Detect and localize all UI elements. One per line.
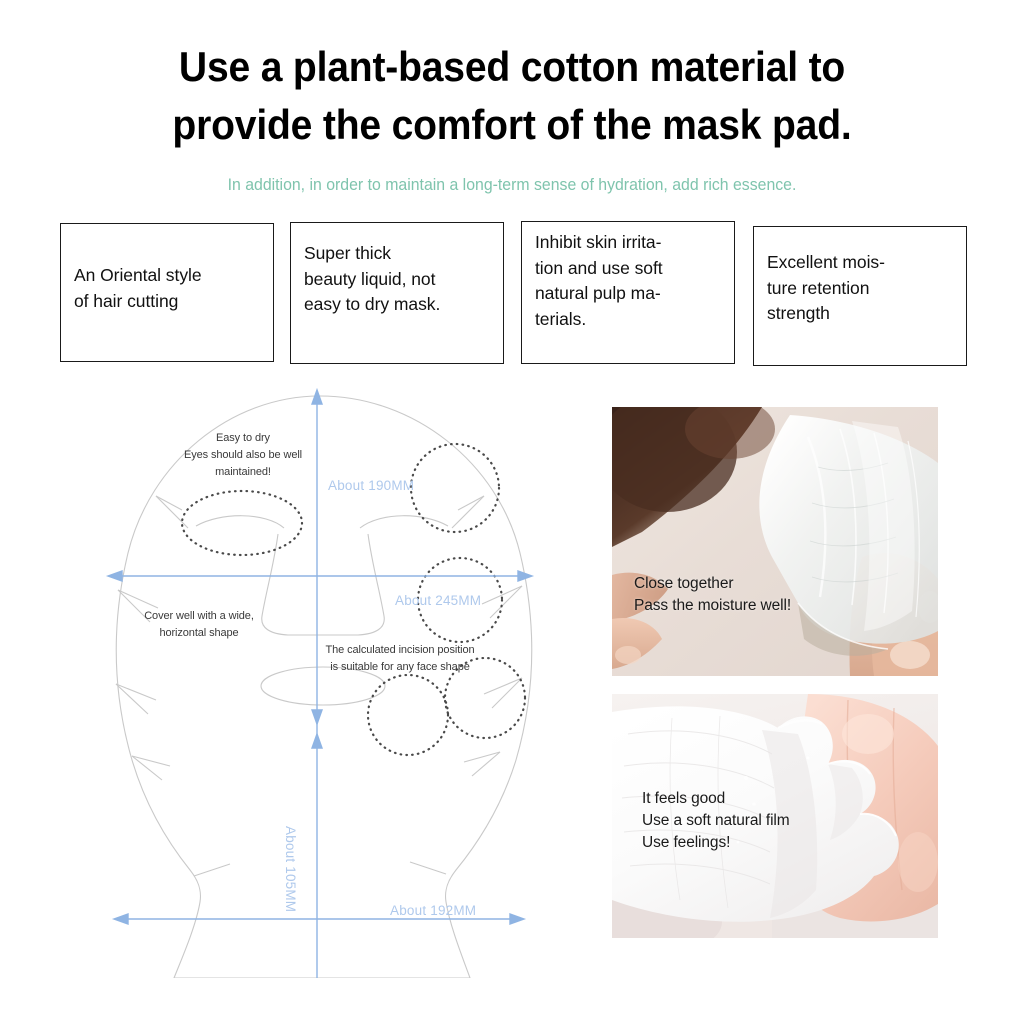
arrow-head-190-bottom — [312, 710, 322, 724]
feature-box-row: An Oriental styleof hair cutting Super t… — [0, 0, 1024, 380]
dimension-label-width-face: About 245MM — [395, 593, 481, 608]
mask-outline-svg — [70, 378, 590, 978]
diagram-note-eye: Easy to dry Eyes should also be well mai… — [158, 430, 328, 481]
caption-line: Close together — [634, 573, 791, 595]
photo-caption: Close together Pass the moisture well! — [634, 573, 791, 617]
text-line: natural pulp ma- — [535, 281, 725, 307]
caption-line: Pass the moisture well! — [634, 595, 791, 617]
eye-opening-left — [196, 516, 284, 528]
note-line: is suitable for any face shape — [300, 659, 500, 676]
notch-slit — [492, 678, 522, 708]
text-line: tion and use soft — [535, 256, 725, 282]
note-line: maintained! — [158, 464, 328, 481]
note-line: Eyes should also be well — [158, 447, 328, 464]
arrow-head-right-192 — [510, 914, 524, 924]
text-line: Excellent mois- — [767, 250, 957, 276]
notch-slit — [116, 684, 156, 700]
dimension-label-width-chin: About 192MM — [390, 903, 476, 918]
note-line: Easy to dry — [158, 430, 328, 447]
notch-slit — [156, 496, 188, 528]
arrow-head-105-top — [312, 734, 322, 748]
note-line: Cover well with a wide, — [114, 608, 284, 625]
photo-cotton-sheet-on-hand: It feels good Use a soft natural film Us… — [612, 694, 938, 938]
note-line: horizontal shape — [114, 625, 284, 642]
feature-box-text: Inhibit skin irrita-tion and use softnat… — [535, 230, 725, 332]
mask-body-outline — [116, 396, 531, 978]
note-line: The calculated incision position — [300, 642, 500, 659]
text-line: strength — [767, 301, 957, 327]
feature-box-moisture-hold: Excellent mois-ture retentionstrength — [753, 226, 967, 366]
diagram-note-cover: Cover well with a wide, horizontal shape — [114, 608, 284, 642]
photo-image — [612, 407, 938, 676]
caption-line: It feels good — [642, 788, 790, 810]
text-line: easy to dry mask. — [304, 292, 494, 318]
photo-column: Close together Pass the moisture well! — [612, 407, 938, 938]
arrow-head-top — [312, 390, 322, 404]
notch-slit — [194, 864, 230, 876]
text-line: ture retention — [767, 276, 957, 302]
eye-opening-right — [360, 516, 448, 528]
feature-box-text: Excellent mois-ture retentionstrength — [767, 250, 957, 327]
caption-line: Use feelings! — [642, 832, 790, 854]
highlight-circle-top-right — [411, 444, 499, 532]
text-line: terials. — [535, 307, 725, 333]
feature-box-text: An Oriental styleof hair cutting — [74, 263, 264, 314]
feature-box-low-irritation: Inhibit skin irrita-tion and use softnat… — [521, 221, 735, 364]
text-line: of hair cutting — [74, 289, 264, 315]
diagram-note-incision: The calculated incision position is suit… — [300, 642, 500, 676]
notch-slit — [156, 496, 182, 510]
text-line: Super thick — [304, 241, 494, 267]
notch-slit — [410, 862, 446, 874]
dimension-label-height: About 190MM — [328, 478, 414, 493]
arrow-head-left-192 — [114, 914, 128, 924]
feature-box-thick-essence: Super thickbeauty liquid, noteasy to dry… — [290, 222, 504, 364]
feature-box-text: Super thickbeauty liquid, noteasy to dry… — [304, 241, 494, 318]
notch-slit — [458, 496, 484, 510]
dimension-label-height-chin: About 105MM — [283, 826, 298, 912]
text-line: Inhibit skin irrita- — [535, 230, 725, 256]
photo-wet-sheet-mask: Close together Pass the moisture well! — [612, 407, 938, 676]
photo-caption: It feels good Use a soft natural film Us… — [642, 788, 790, 854]
caption-line: Use a soft natural film — [642, 810, 790, 832]
arrow-head-left-245 — [108, 571, 122, 581]
sheet-mask-dimension-drawing: Easy to dry Eyes should also be well mai… — [70, 378, 590, 978]
notch-slit — [484, 678, 522, 694]
notch-slit — [452, 496, 484, 528]
notch-slit — [118, 590, 158, 608]
highlight-circle-eye — [182, 491, 302, 555]
highlight-circle-lower-a — [368, 675, 448, 755]
feature-box-oriental-cut: An Oriental styleof hair cutting — [60, 223, 274, 362]
text-line: beauty liquid, not — [304, 267, 494, 293]
notch-slit — [490, 586, 522, 618]
text-line: An Oriental style — [74, 263, 264, 289]
